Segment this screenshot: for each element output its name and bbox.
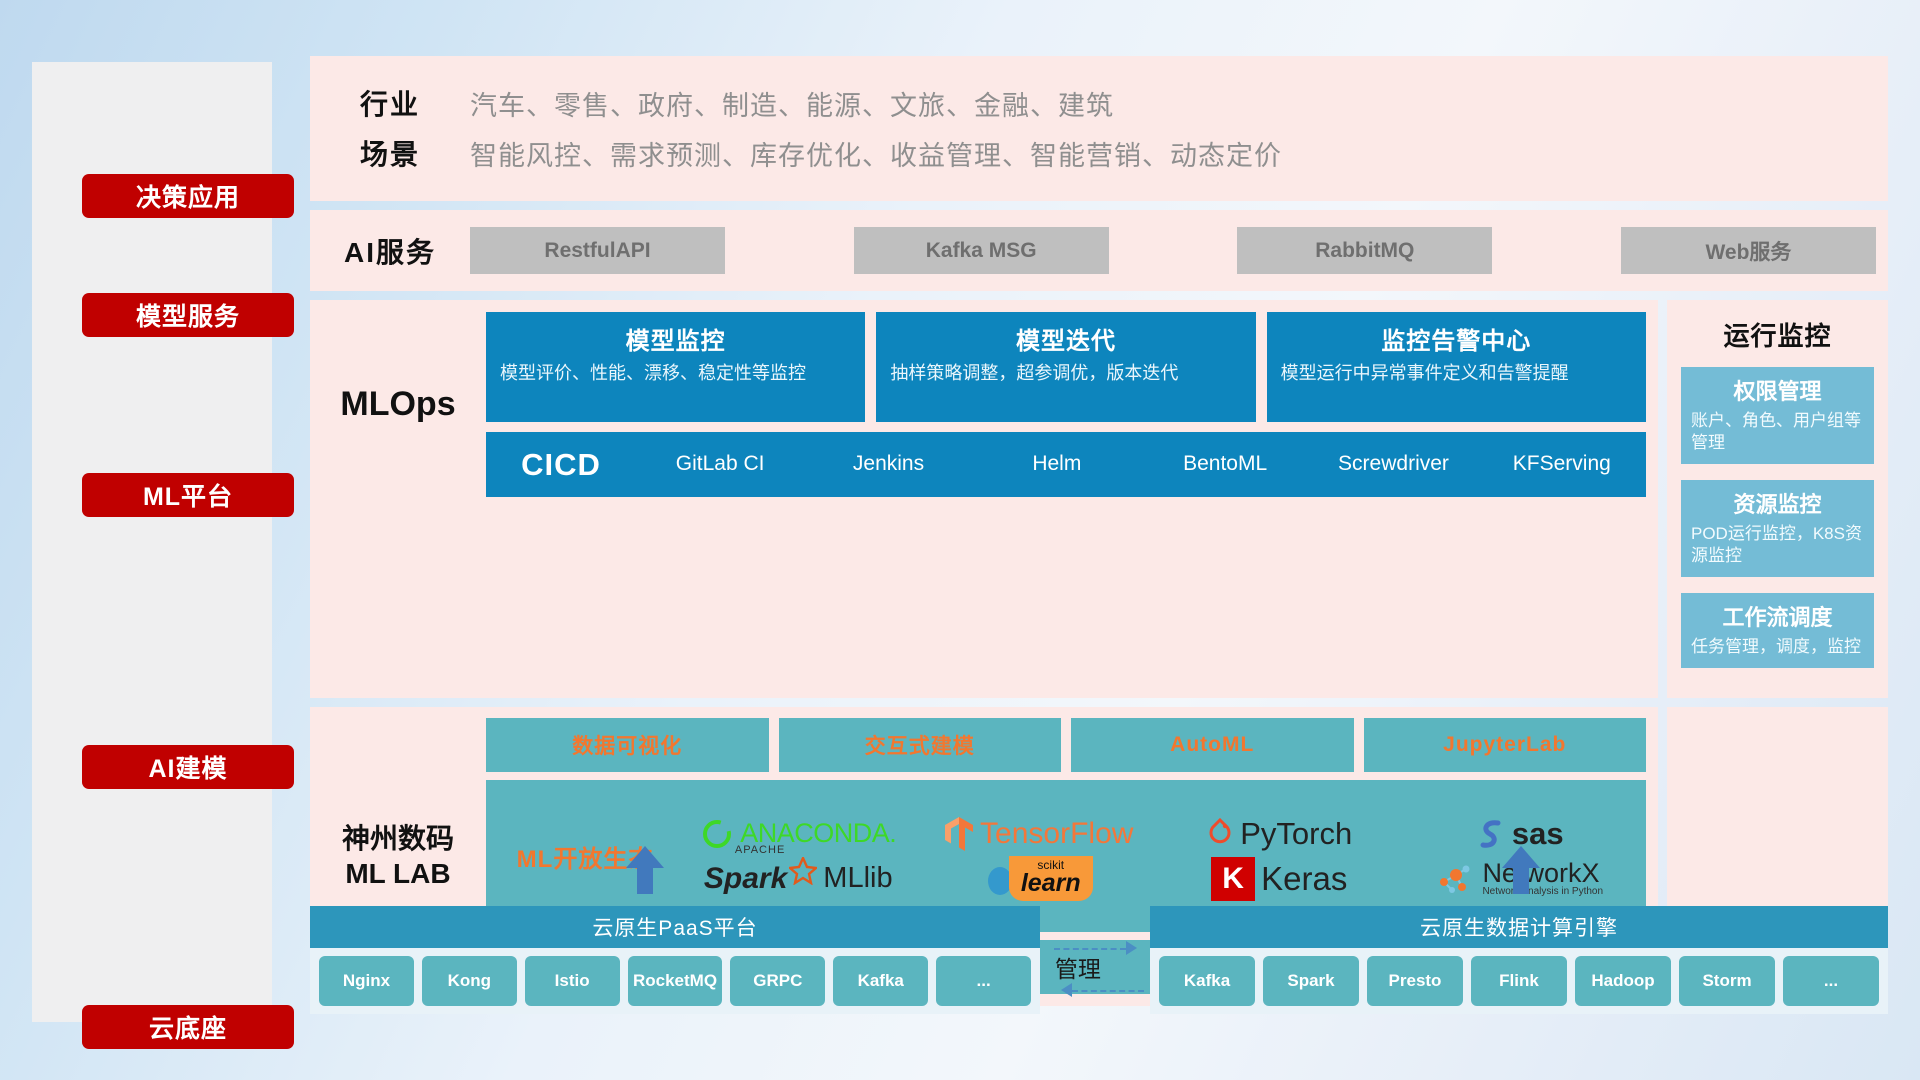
card-title: 监控告警中心: [1281, 321, 1632, 356]
industry-row: 行业 汽车、零售、政府、制造、能源、文旅、金融、建筑: [310, 78, 1888, 128]
monitor-card-workflow[interactable]: 工作流调度 任务管理，调度，监控: [1681, 593, 1874, 668]
card-desc: 账户、角色、用户组等管理: [1691, 410, 1864, 454]
component-kafka-engine[interactable]: Kafka: [1159, 956, 1255, 1006]
industry-scenario-band: 行业 汽车、零售、政府、制造、能源、文旅、金融、建筑 场景 智能风控、需求预测、…: [310, 56, 1888, 201]
ai-service-pill-restfulapi[interactable]: RestfulAPI: [470, 227, 725, 274]
component-more[interactable]: ...: [936, 956, 1031, 1006]
component-spark[interactable]: Spark: [1263, 956, 1359, 1006]
card-title: 工作流调度: [1691, 600, 1864, 632]
scenario-row: 场景 智能风控、需求预测、库存优化、收益管理、智能营销、动态定价: [310, 128, 1888, 178]
industry-label: 行业: [310, 83, 470, 123]
tool-automl[interactable]: AutoML: [1071, 718, 1354, 772]
monitor-card-permission[interactable]: 权限管理 账户、角色、用户组等管理: [1681, 367, 1874, 464]
tensorflow-mark-icon: [944, 816, 974, 852]
component-kong[interactable]: Kong: [422, 956, 517, 1006]
main-stack: 行业 汽车、零售、政府、制造、能源、文旅、金融、建筑 场景 智能风控、需求预测、…: [310, 56, 1888, 1006]
stage-chip-decision-app[interactable]: 决策应用: [82, 174, 294, 218]
ai-service-pill-web-service[interactable]: Web服务: [1621, 227, 1876, 274]
cicd-row: CICD GitLab CI Jenkins Helm BentoML Scre…: [486, 432, 1646, 497]
ml-ecosystem-logo-grid: ANACONDA. TensorFlow: [678, 811, 1640, 901]
pytorch-logo: PyTorch: [1159, 816, 1400, 852]
mlops-card-model-iteration[interactable]: 模型迭代 抽样策略调整，超参调优，版本迭代: [876, 312, 1255, 422]
ai-service-pill-kafka-msg[interactable]: Kafka MSG: [854, 227, 1109, 274]
card-desc: 任务管理，调度，监控: [1691, 636, 1864, 658]
component-grpc[interactable]: GRPC: [730, 956, 825, 1006]
component-rocketmq[interactable]: RocketMQ: [628, 956, 723, 1006]
ai-service-label: AI服务: [310, 231, 470, 271]
dash-line-left: [1072, 990, 1144, 992]
component-more-engine[interactable]: ...: [1783, 956, 1879, 1006]
anaconda-logo: ANACONDA.: [678, 817, 919, 851]
tool-jupyterlab[interactable]: JupyterLab: [1364, 718, 1647, 772]
modeling-label-line2: ML LAB: [345, 858, 450, 889]
mlops-and-monitor-row: MLOps 模型监控 模型评价、性能、漂移、稳定性等监控 模型迭代 抽样策略调整…: [310, 300, 1888, 698]
scenario-label: 场景: [310, 133, 470, 173]
card-desc: POD运行监控，K8S资源监控: [1691, 523, 1864, 567]
apache-tag: APACHE: [735, 844, 785, 856]
spark-mllib-logo: APACHE Spark MLlib: [678, 862, 919, 896]
cloud-paas-title: 云原生PaaS平台: [310, 906, 1040, 948]
mllib-wordmark: MLlib: [823, 862, 892, 895]
card-desc: 抽样策略调整，超参调优，版本迭代: [890, 362, 1241, 386]
component-presto[interactable]: Presto: [1367, 956, 1463, 1006]
component-hadoop[interactable]: Hadoop: [1575, 956, 1671, 1006]
tensorflow-logo: TensorFlow: [919, 816, 1160, 852]
run-monitor-panel: 运行监控 权限管理 账户、角色、用户组等管理 资源监控 POD运行监控，K8S资…: [1667, 300, 1888, 698]
networkx-wordmark: NetworkX: [1482, 860, 1603, 887]
stage-chip-model-service[interactable]: 模型服务: [82, 293, 294, 337]
cloud-data-engine: 云原生数据计算引擎 Kafka Spark Presto Flink Hadoo…: [1150, 906, 1888, 1014]
dash-arrow-right-icon: [1126, 941, 1137, 955]
tool-interactive-modeling[interactable]: 交互式建模: [779, 718, 1062, 772]
stage-chip-ai-modeling[interactable]: AI建模: [82, 745, 294, 789]
mlops-card-list: 模型监控 模型评价、性能、漂移、稳定性等监控 模型迭代 抽样策略调整，超参调优，…: [486, 312, 1646, 422]
mlops-card-model-monitoring[interactable]: 模型监控 模型评价、性能、漂移、稳定性等监控: [486, 312, 865, 422]
industry-values: 汽车、零售、政府、制造、能源、文旅、金融、建筑: [470, 84, 1114, 123]
mlops-label: MLOps: [310, 312, 486, 497]
ai-service-pill-rabbitmq[interactable]: RabbitMQ: [1237, 227, 1492, 274]
component-kafka[interactable]: Kafka: [833, 956, 928, 1006]
ai-service-pill-list: RestfulAPI Kafka MSG RabbitMQ Web服务: [470, 227, 1888, 274]
component-nginx[interactable]: Nginx: [319, 956, 414, 1006]
cicd-item-helm[interactable]: Helm: [973, 452, 1141, 476]
stage-chip-cloud-base[interactable]: 云底座: [82, 1005, 294, 1049]
dash-arrow-left-icon: [1061, 983, 1072, 997]
cicd-item-jenkins[interactable]: Jenkins: [804, 452, 972, 476]
tool-data-visualization[interactable]: 数据可视化: [486, 718, 769, 772]
modeling-label-line1: 神州数码: [342, 823, 454, 854]
component-flink[interactable]: Flink: [1471, 956, 1567, 1006]
cicd-item-gitlab-ci[interactable]: GitLab CI: [636, 452, 804, 476]
cicd-item-bentoml[interactable]: BentoML: [1141, 452, 1309, 476]
mlops-card-alert-center[interactable]: 监控告警中心 模型运行中异常事件定义和告警提醒: [1267, 312, 1646, 422]
cloud-data-engine-components: Kafka Spark Presto Flink Hadoop Storm ..…: [1150, 948, 1888, 1014]
card-title: 权限管理: [1691, 374, 1864, 406]
pytorch-flame-icon: [1206, 817, 1234, 851]
cicd-label: CICD: [486, 447, 636, 483]
card-title: 模型监控: [500, 321, 851, 356]
card-title: 模型迭代: [890, 321, 1241, 356]
stage-label-column: 决策应用 模型服务 ML平台 AI建模 云底座: [32, 62, 272, 1022]
networkx-graph-icon: [1436, 862, 1476, 896]
run-monitor-title: 运行监控: [1681, 316, 1874, 353]
mlops-band: MLOps 模型监控 模型评价、性能、漂移、稳定性等监控 模型迭代 抽样策略调整…: [310, 300, 1658, 698]
cloud-paas-components: Nginx Kong Istio RocketMQ GRPC Kafka ...: [310, 948, 1040, 1014]
monitor-card-resource[interactable]: 资源监控 POD运行监控，K8S资源监控: [1681, 480, 1874, 577]
cicd-item-kfserving[interactable]: KFServing: [1478, 452, 1646, 476]
modeling-tool-list: 数据可视化 交互式建模 AutoML JupyterLab: [486, 718, 1646, 772]
spark-star-icon: [789, 857, 817, 885]
tensorflow-wordmark: TensorFlow: [980, 817, 1133, 851]
spark-wordmark: Spark: [704, 862, 787, 895]
cicd-item-screwdriver[interactable]: Screwdriver: [1309, 452, 1477, 476]
stage-chip-ml-platform[interactable]: ML平台: [82, 473, 294, 517]
card-title: 资源监控: [1691, 487, 1864, 519]
scenario-values: 智能风控、需求预测、库存优化、收益管理、智能营销、动态定价: [470, 134, 1282, 173]
architecture-diagram: 决策应用 模型服务 ML平台 AI建模 云底座 行业 汽车、零售、政府、制造、能…: [0, 0, 1920, 1080]
cloud-base-row: 云原生PaaS平台 Nginx Kong Istio RocketMQ GRPC…: [310, 892, 1888, 1022]
cloud-data-engine-title: 云原生数据计算引擎: [1150, 906, 1888, 948]
anaconda-mark-icon: [700, 817, 734, 851]
card-desc: 模型运行中异常事件定义和告警提醒: [1281, 362, 1632, 386]
pytorch-wordmark: PyTorch: [1240, 816, 1352, 852]
card-desc: 模型评价、性能、漂移、稳定性等监控: [500, 362, 851, 386]
cloud-paas-platform: 云原生PaaS平台 Nginx Kong Istio RocketMQ GRPC…: [310, 906, 1040, 1014]
component-istio[interactable]: Istio: [525, 956, 620, 1006]
cicd-item-list: GitLab CI Jenkins Helm BentoML Screwdriv…: [636, 452, 1646, 476]
component-storm[interactable]: Storm: [1679, 956, 1775, 1006]
ai-service-band: AI服务 RestfulAPI Kafka MSG RabbitMQ Web服务: [310, 210, 1888, 291]
dash-line-right: [1054, 948, 1126, 950]
